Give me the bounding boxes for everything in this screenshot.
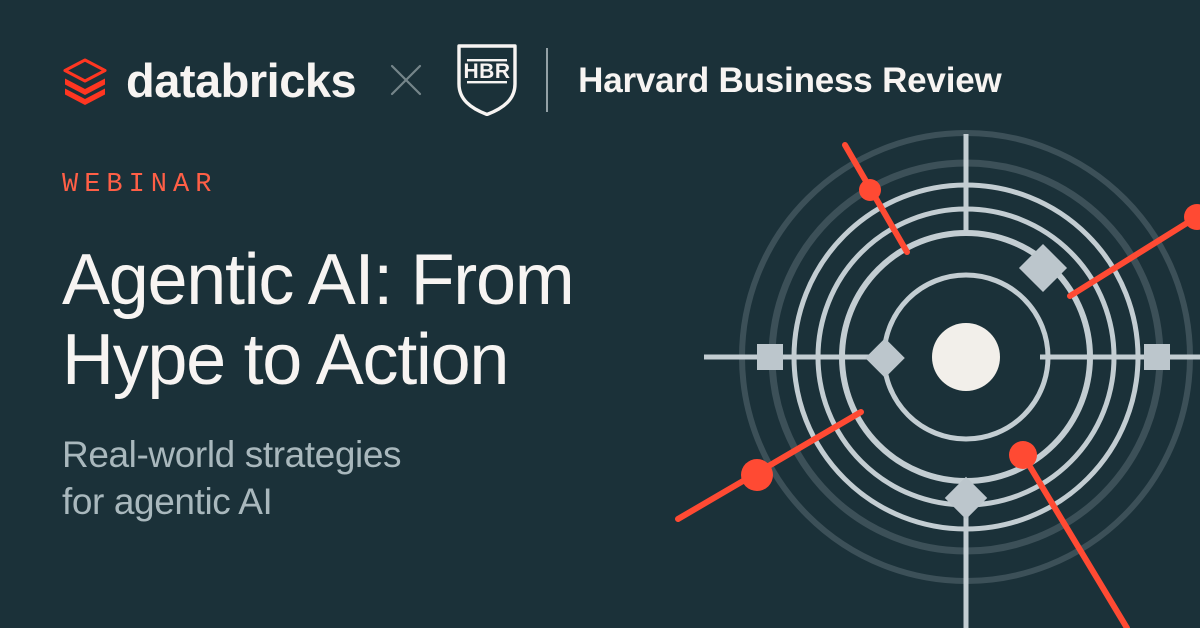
accent-line-bottom-right — [1023, 455, 1127, 628]
orbit-rings — [742, 133, 1190, 581]
node-square-right — [1144, 344, 1170, 370]
subtitle-line-1: Real-world strategies — [62, 431, 682, 478]
hbr-wordmark: Harvard Business Review — [578, 63, 1001, 98]
page-title: Agentic AI: From Hype to Action — [62, 241, 682, 401]
accent-line-top-left-dot — [859, 179, 881, 201]
accent-line-right-dot — [1184, 204, 1200, 230]
accent-line-top-left — [845, 145, 907, 252]
subtitle: Real-world strategies for agentic AI — [62, 431, 682, 526]
eyebrow-label: WEBINAR — [62, 172, 682, 199]
headline-line-2: Hype to Action — [62, 321, 682, 401]
hbr-shield-icon: HBR — [456, 44, 518, 116]
orbit-ring-3 — [818, 209, 1114, 505]
orbit-ring-5 — [772, 163, 1160, 551]
orbit-axes — [704, 134, 1200, 628]
headline-line-1: Agentic AI: From — [62, 241, 682, 321]
accent-line-bottom-left — [678, 412, 861, 519]
accent-line-right — [1070, 213, 1200, 296]
orbit-accent-lines — [678, 145, 1200, 628]
logo-divider — [546, 48, 548, 112]
node-diamond-upper-right — [1019, 244, 1067, 292]
orbit-core — [932, 323, 1000, 391]
orbit-nodes — [757, 244, 1170, 519]
node-square-left — [757, 344, 783, 370]
logo-lockup: databricks HBR Harvard Business Review — [62, 45, 1002, 115]
accent-line-bottom-left-dot — [741, 459, 773, 491]
orbit-ring-6 — [742, 133, 1190, 581]
accent-line-bottom-right-dot — [1009, 441, 1037, 469]
x-icon — [390, 64, 422, 96]
orbit-ring-1 — [884, 275, 1048, 439]
orbit-core-dot — [932, 323, 1000, 391]
node-diamond-left — [865, 338, 905, 378]
webinar-promo-banner: databricks HBR Harvard Business Review W… — [0, 0, 1200, 628]
hbr-shield-text: HBR — [464, 60, 511, 83]
orbit-ring-2 — [842, 233, 1090, 481]
harvard-business-review-logo: HBR Harvard Business Review — [456, 44, 1001, 116]
databricks-wordmark: databricks — [126, 57, 356, 104]
orbit-ring-4 — [794, 185, 1138, 529]
promo-copy: WEBINAR Agentic AI: From Hype to Action … — [62, 172, 682, 526]
node-diamond-bottom — [945, 477, 987, 519]
subtitle-line-2: for agentic AI — [62, 478, 682, 525]
databricks-logo-mark — [62, 55, 108, 105]
databricks-logo: databricks — [62, 55, 356, 105]
